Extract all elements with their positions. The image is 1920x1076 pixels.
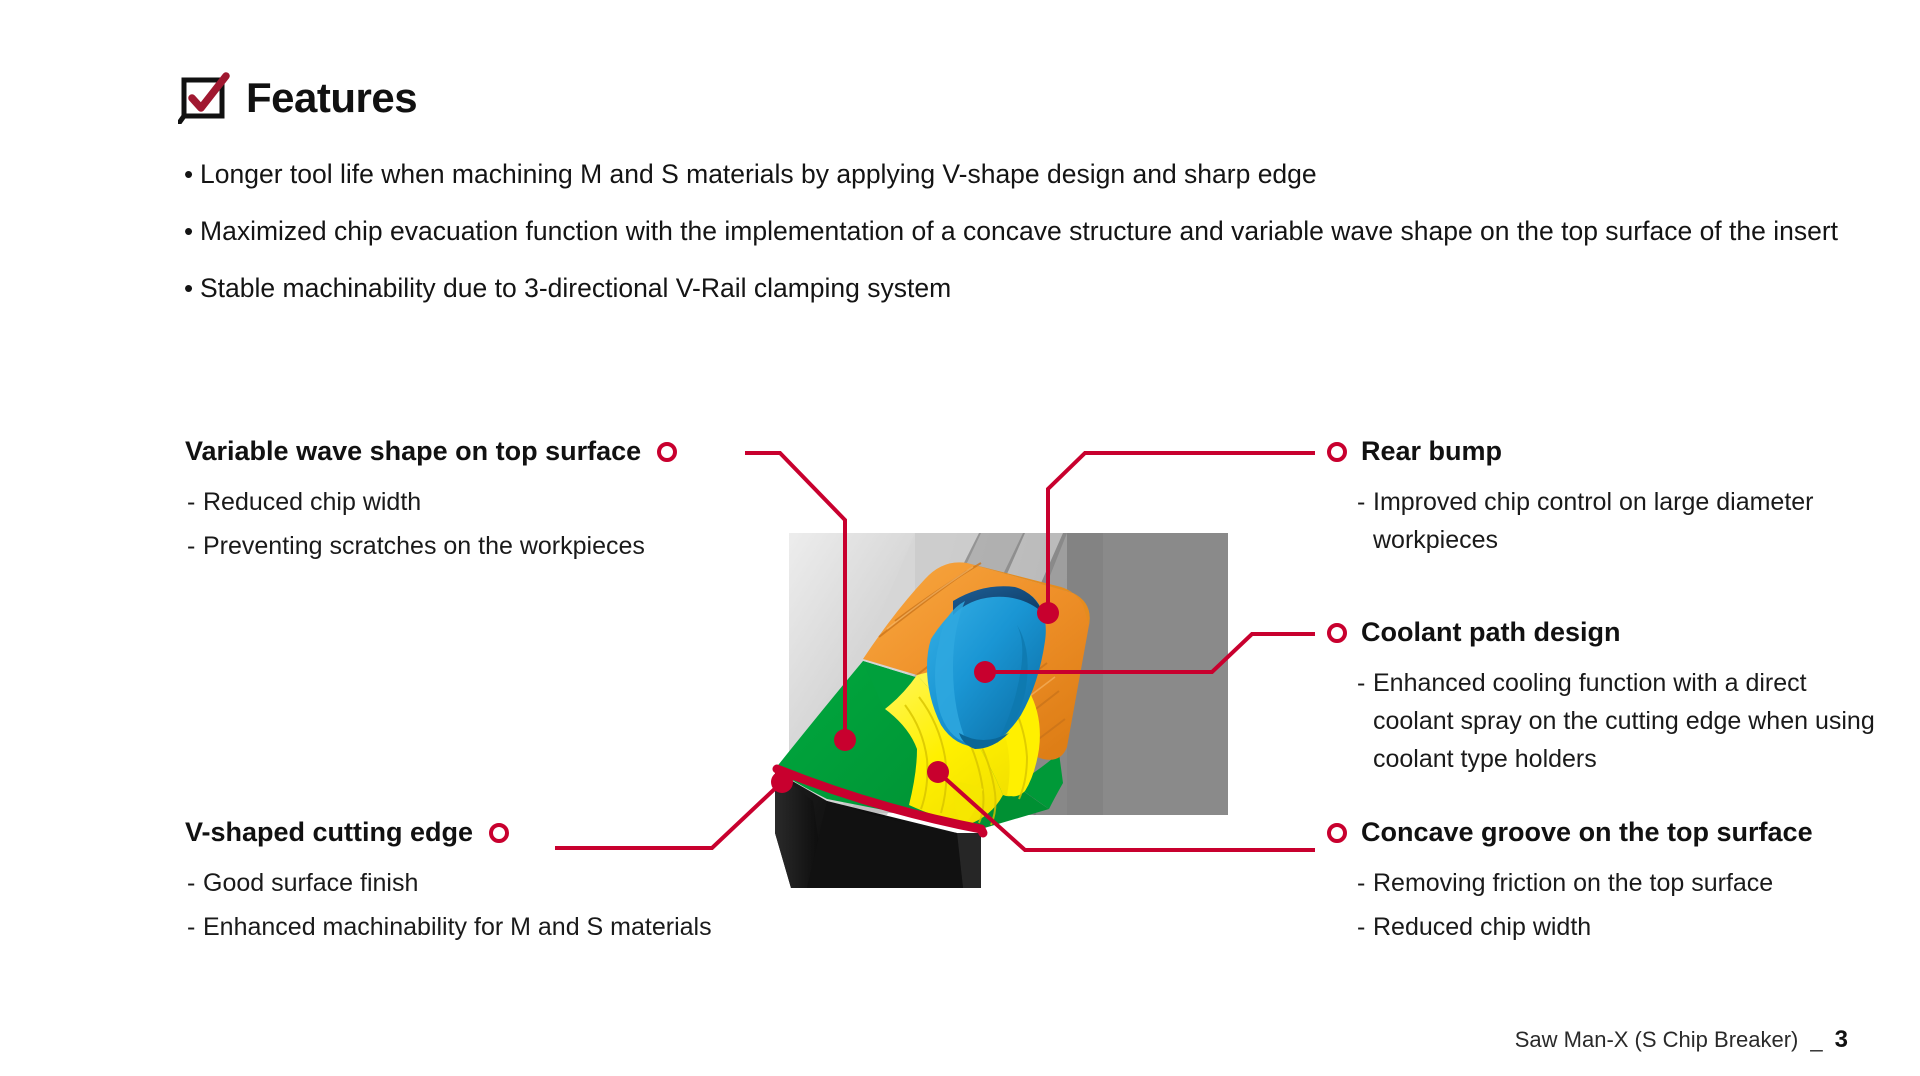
dash-marker-icon: - <box>187 864 203 902</box>
callout-marker-icon <box>1327 823 1347 843</box>
checklist-check-icon <box>178 72 232 124</box>
callout-detail-text: Removing friction on the top surface <box>1373 864 1907 902</box>
page-header: Features <box>178 72 417 124</box>
callout-detail-item: - Removing friction on the top surface <box>1357 864 1907 902</box>
bullet-marker-icon: • <box>184 212 200 251</box>
callout-detail-list: - Reduced chip width - Preventing scratc… <box>187 483 677 565</box>
callout-detail-item: - Enhanced machinability for M and S mat… <box>187 908 712 946</box>
bullet-text: Maximized chip evacuation function with … <box>200 212 1844 251</box>
insert-3d-illustration <box>767 533 1228 888</box>
callout-detail-list: - Removing friction on the top surface -… <box>1357 864 1907 946</box>
callout-v-shaped-cutting-edge: V-shaped cutting edge - Good surface fin… <box>185 818 712 952</box>
callout-title: V-shaped cutting edge <box>185 818 473 848</box>
callout-marker-icon <box>489 823 509 843</box>
bullet-text: Longer tool life when machining M and S … <box>200 155 1844 194</box>
callout-marker-icon <box>657 442 677 462</box>
features-bullet-list: • Longer tool life when machining M and … <box>184 155 1844 326</box>
dash-marker-icon: - <box>1357 483 1373 559</box>
callout-rear-bump: Rear bump - Improved chip control on lar… <box>1327 437 1887 565</box>
dash-marker-icon: - <box>1357 864 1373 902</box>
callout-marker-icon <box>1327 623 1347 643</box>
callout-header: V-shaped cutting edge <box>185 818 712 848</box>
callout-detail-text: Enhanced machinability for M and S mater… <box>203 908 712 946</box>
callout-detail-item: - Improved chip control on large diamete… <box>1357 483 1887 559</box>
bullet-text: Stable machinability due to 3-directiona… <box>200 269 1844 308</box>
callout-detail-item: - Reduced chip width <box>187 483 677 521</box>
callout-detail-list: - Good surface finish - Enhanced machina… <box>187 864 712 946</box>
callout-coolant-path-design: Coolant path design - Enhanced cooling f… <box>1327 618 1887 784</box>
callout-header: Rear bump <box>1327 437 1887 467</box>
dash-marker-icon: - <box>187 483 203 521</box>
callout-header: Variable wave shape on top surface <box>185 437 677 467</box>
bullet-marker-icon: • <box>184 269 200 308</box>
callout-detail-text: Good surface finish <box>203 864 712 902</box>
callout-detail-item: - Enhanced cooling function with a direc… <box>1357 664 1887 778</box>
callout-title: Concave groove on the top surface <box>1361 818 1813 848</box>
dash-marker-icon: - <box>1357 664 1373 778</box>
callout-marker-icon <box>1327 442 1347 462</box>
callout-detail-text: Improved chip control on large diameter … <box>1373 483 1887 559</box>
callout-header: Concave groove on the top surface <box>1327 818 1907 848</box>
dash-marker-icon: - <box>187 908 203 946</box>
callout-detail-text: Enhanced cooling function with a direct … <box>1373 664 1887 778</box>
footer-separator: _ <box>1810 1027 1822 1053</box>
callout-detail-text: Preventing scratches on the workpieces <box>203 527 677 565</box>
page-footer: Saw Man-X (S Chip Breaker) _ 3 <box>1515 1026 1848 1054</box>
callout-title: Variable wave shape on top surface <box>185 437 641 467</box>
bullet-marker-icon: • <box>184 155 200 194</box>
callout-detail-item: - Good surface finish <box>187 864 712 902</box>
dash-marker-icon: - <box>187 527 203 565</box>
callout-detail-list: - Improved chip control on large diamete… <box>1357 483 1887 559</box>
callout-detail-text: Reduced chip width <box>1373 908 1907 946</box>
callout-detail-item: - Reduced chip width <box>1357 908 1907 946</box>
page-title: Features <box>246 77 417 119</box>
callout-title: Rear bump <box>1361 437 1502 467</box>
callout-header: Coolant path design <box>1327 618 1887 648</box>
bullet-item: • Stable machinability due to 3-directio… <box>184 269 1844 308</box>
bullet-item: • Maximized chip evacuation function wit… <box>184 212 1844 251</box>
bullet-item: • Longer tool life when machining M and … <box>184 155 1844 194</box>
callout-variable-wave-shape: Variable wave shape on top surface - Red… <box>185 437 677 571</box>
dash-marker-icon: - <box>1357 908 1373 946</box>
footer-page-number: 3 <box>1835 1026 1848 1054</box>
callout-title: Coolant path design <box>1361 618 1621 648</box>
footer-document-title: Saw Man-X (S Chip Breaker) <box>1515 1027 1799 1053</box>
callout-detail-text: Reduced chip width <box>203 483 677 521</box>
callout-detail-item: - Preventing scratches on the workpieces <box>187 527 677 565</box>
callout-concave-groove: Concave groove on the top surface - Remo… <box>1327 818 1907 952</box>
callout-detail-list: - Enhanced cooling function with a direc… <box>1357 664 1887 778</box>
